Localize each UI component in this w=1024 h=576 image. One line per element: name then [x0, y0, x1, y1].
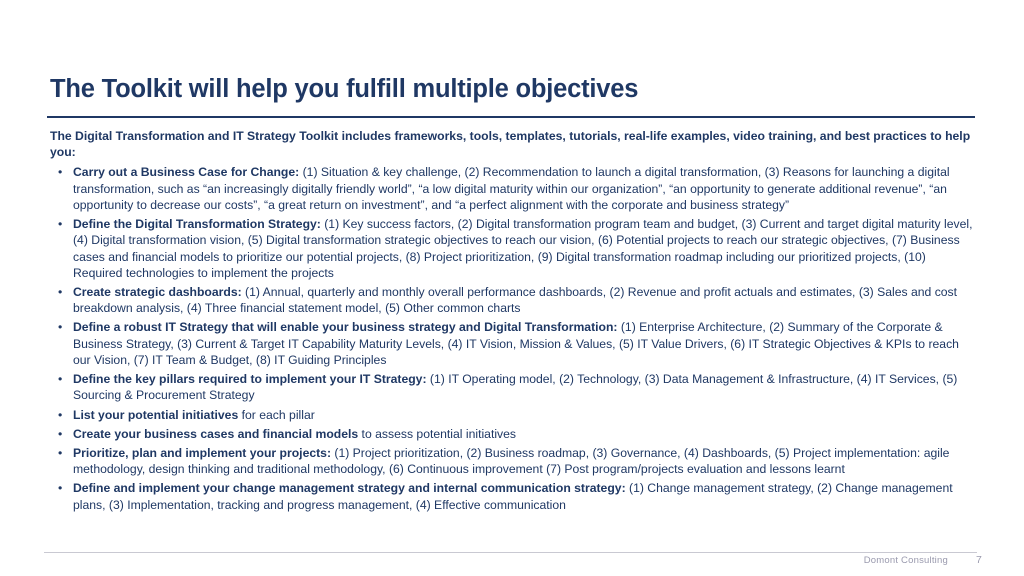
list-item: • Define the key pillars required to imp…	[50, 371, 975, 403]
bullet-lead: Define and implement your change managem…	[73, 481, 626, 495]
bullet-lead: List your potential initiatives	[73, 408, 238, 422]
list-item: • List your potential initiatives for ea…	[50, 407, 975, 423]
slide-body: The Digital Transformation and IT Strate…	[50, 128, 975, 516]
list-item: • Create your business cases and financi…	[50, 426, 975, 442]
bullet-lead: Define the key pillars required to imple…	[73, 372, 427, 386]
bullet-icon: •	[58, 426, 62, 442]
bullet-icon: •	[58, 480, 62, 496]
footer-page-number: 7	[976, 554, 982, 566]
bullet-icon: •	[58, 284, 62, 300]
list-item: • Create strategic dashboards: (1) Annua…	[50, 284, 975, 316]
bullet-icon: •	[58, 407, 62, 423]
title-divider	[47, 116, 975, 118]
footer-divider	[44, 552, 977, 553]
bullet-lead: Prioritize, plan and implement your proj…	[73, 446, 331, 460]
list-item: • Define a robust IT Strategy that will …	[50, 319, 975, 368]
bullet-icon: •	[58, 319, 62, 335]
bullet-lead: Define the Digital Transformation Strate…	[73, 217, 321, 231]
list-item: • Define and implement your change manag…	[50, 480, 975, 512]
bullet-icon: •	[58, 445, 62, 461]
objectives-list: • Carry out a Business Case for Change: …	[50, 164, 975, 512]
footer-company: Domont Consulting	[864, 555, 948, 566]
bullet-icon: •	[58, 164, 62, 180]
bullet-lead: Create your business cases and financial…	[73, 427, 358, 441]
page-title: The Toolkit will help you fulfill multip…	[50, 75, 970, 104]
bullet-lead: Define a robust IT Strategy that will en…	[73, 320, 617, 334]
bullet-icon: •	[58, 371, 62, 387]
bullet-lead: Create strategic dashboards:	[73, 285, 242, 299]
bullet-rest: for each pillar	[238, 408, 315, 422]
bullet-lead: Carry out a Business Case for Change:	[73, 165, 299, 179]
slide-footer: Domont Consulting 7	[864, 554, 982, 566]
bullet-rest: to assess potential initiatives	[358, 427, 516, 441]
list-item: • Prioritize, plan and implement your pr…	[50, 445, 975, 477]
intro-paragraph: The Digital Transformation and IT Strate…	[50, 128, 975, 160]
slide: The Toolkit will help you fulfill multip…	[0, 0, 1024, 576]
list-item: • Define the Digital Transformation Stra…	[50, 216, 975, 281]
list-item: • Carry out a Business Case for Change: …	[50, 164, 975, 213]
bullet-icon: •	[58, 216, 62, 232]
